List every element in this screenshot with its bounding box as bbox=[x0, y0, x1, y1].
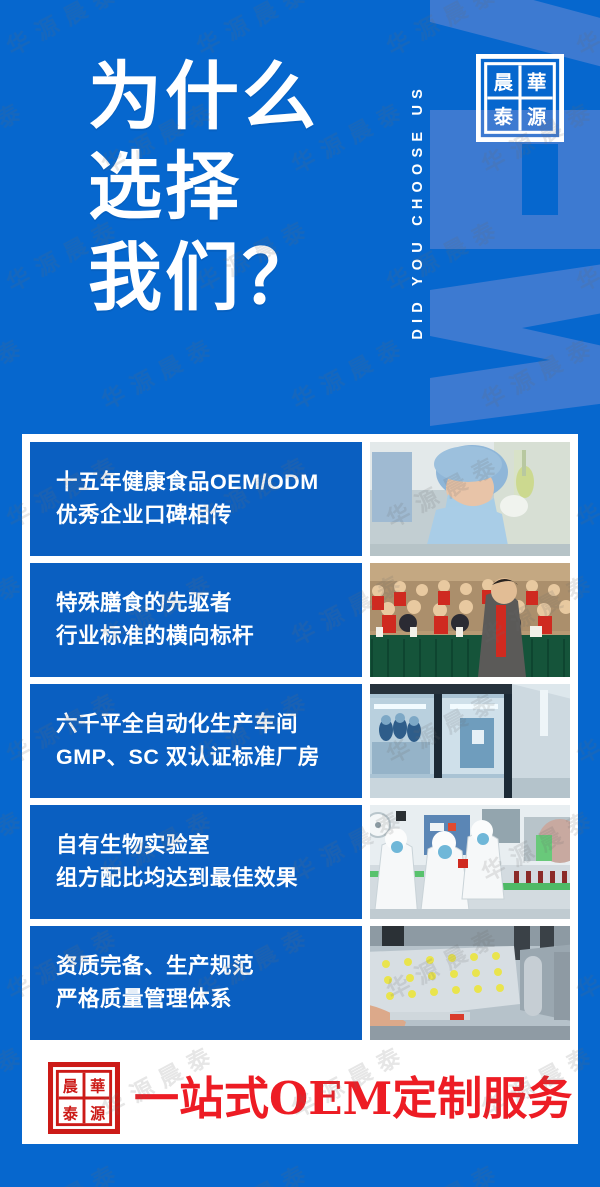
vertical-tagline-text: DID YOU CHOOSE US bbox=[410, 83, 426, 340]
feature-line-2: 组方配比均达到最佳效果 bbox=[56, 862, 362, 895]
feature-photo-blister-packing bbox=[370, 926, 570, 1040]
feature-photo-production-line-workers bbox=[370, 805, 570, 919]
svg-text:華: 華 bbox=[90, 1078, 105, 1096]
company-seal-red-icon: 晨 華 泰 源 bbox=[48, 1062, 120, 1134]
poster-header: 为什么 选择 我们？ DID YOU CHOOSE US 晨 華 泰 源 bbox=[0, 0, 600, 430]
feature-line-1: 资质完备、生产规范 bbox=[56, 950, 362, 983]
feature-line-1: 六千平全自动化生产车间 bbox=[56, 708, 362, 741]
feature-photo-conference-audience bbox=[370, 563, 570, 677]
feature-photo-cleanroom-corridor bbox=[370, 684, 570, 798]
feature-row: 特殊膳食的先驱者 行业标准的横向标杆 bbox=[30, 563, 570, 677]
feature-card: 自有生物实验室 组方配比均达到最佳效果 bbox=[30, 805, 362, 919]
feature-line-2: 优秀企业口碑相传 bbox=[56, 499, 362, 532]
watermark-text: 华源晨泰 bbox=[570, 1152, 600, 1187]
feature-line-1: 十五年健康食品OEM/ODM bbox=[56, 466, 362, 499]
title-line-1: 为什么 bbox=[88, 52, 388, 142]
feature-row: 自有生物实验室 组方配比均达到最佳效果 bbox=[30, 805, 570, 919]
svg-text:晨: 晨 bbox=[494, 71, 514, 94]
feature-card: 十五年健康食品OEM/ODM 优秀企业口碑相传 bbox=[30, 442, 362, 556]
feature-line-2: 严格质量管理体系 bbox=[56, 983, 362, 1016]
feature-line-1: 自有生物实验室 bbox=[56, 829, 362, 862]
feature-line-2: GMP、SC 双认证标准厂房 bbox=[56, 741, 362, 774]
svg-text:泰: 泰 bbox=[62, 1105, 79, 1123]
company-seal-icon: 晨 華 泰 源 bbox=[476, 54, 564, 142]
svg-text:華: 華 bbox=[527, 71, 546, 94]
bottom-cta-banner[interactable]: 晨 華 泰 源 一站式OEM定制服务 bbox=[22, 1053, 578, 1143]
feature-card: 特殊膳食的先驱者 行业标准的横向标杆 bbox=[30, 563, 362, 677]
feature-list: 十五年健康食品OEM/ODM 优秀企业口碑相传 bbox=[22, 434, 578, 1040]
feature-row: 六千平全自动化生产车间 GMP、SC 双认证标准厂房 bbox=[30, 684, 570, 798]
svg-text:源: 源 bbox=[90, 1105, 105, 1123]
feature-photo-lab-technician bbox=[370, 442, 570, 556]
feature-row: 资质完备、生产规范 严格质量管理体系 bbox=[30, 926, 570, 1040]
title-line-2: 选择 bbox=[88, 142, 388, 232]
bottom-cta-text: 一站式OEM定制服务 bbox=[134, 1076, 572, 1121]
feature-card: 六千平全自动化生产车间 GMP、SC 双认证标准厂房 bbox=[30, 684, 362, 798]
watermark-text: 华源晨泰 bbox=[380, 1152, 509, 1187]
vertical-tagline: DID YOU CHOOSE US bbox=[404, 16, 432, 406]
title-line-3: 我们？ bbox=[88, 233, 388, 323]
svg-text:晨: 晨 bbox=[63, 1078, 79, 1096]
poster-root: 为什么 选择 我们？ DID YOU CHOOSE US 晨 華 泰 源 bbox=[0, 0, 600, 1187]
feature-line-1: 特殊膳食的先驱者 bbox=[56, 587, 362, 620]
watermark-text: 华源晨泰 bbox=[190, 1152, 319, 1187]
svg-text:源: 源 bbox=[527, 106, 547, 129]
main-title: 为什么 选择 我们？ bbox=[88, 52, 388, 323]
watermark-text: 华源晨泰 bbox=[0, 1152, 128, 1187]
feature-row: 十五年健康食品OEM/ODM 优秀企业口碑相传 bbox=[30, 442, 570, 556]
svg-text:泰: 泰 bbox=[493, 106, 514, 129]
feature-line-2: 行业标准的横向标杆 bbox=[56, 620, 362, 653]
feature-card: 资质完备、生产规范 严格质量管理体系 bbox=[30, 926, 362, 1040]
